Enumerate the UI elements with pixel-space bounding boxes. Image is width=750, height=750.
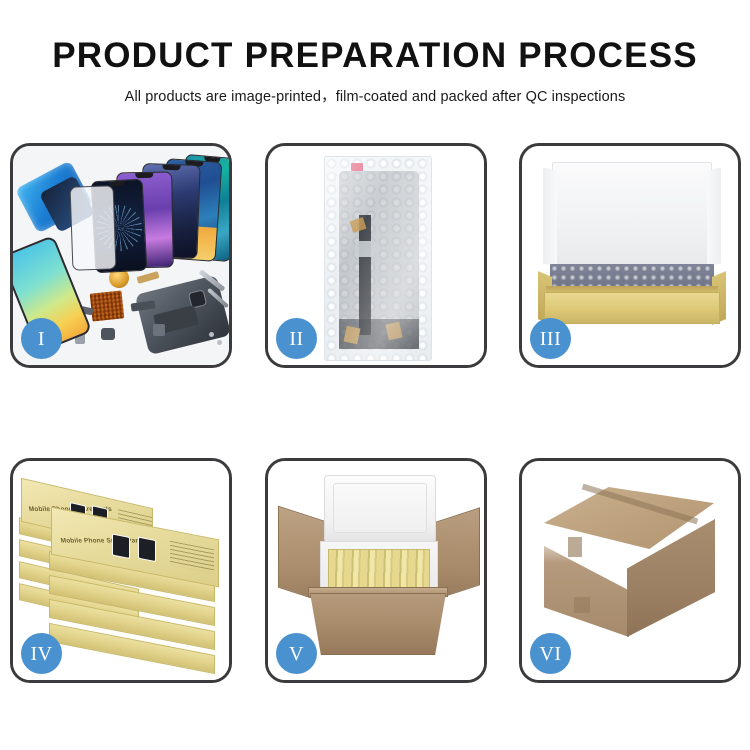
box-print-screen-image	[112, 534, 130, 559]
box-lid-open	[552, 162, 712, 272]
carton-left-face	[544, 531, 629, 637]
step-panel-4: Mobile Phone Spare Parts Mobile Phone Sp…	[10, 458, 232, 683]
flex-cable-gold	[136, 271, 159, 284]
step-panel-5: V	[265, 458, 487, 683]
phone-back-housing	[135, 275, 229, 355]
yellow-boxes-inside	[328, 549, 430, 591]
box-print-label: Mobile Phone Spare Parts	[60, 538, 145, 545]
step-badge-5: V	[276, 633, 317, 674]
carton-front-panel	[310, 593, 446, 655]
camera-module-part	[101, 328, 115, 340]
product-preparation-infographic: PRODUCT PREPARATION PROCESS All products…	[0, 0, 750, 750]
screw-part	[217, 340, 222, 345]
foam-lid	[324, 475, 436, 543]
carton-tape-mark	[574, 597, 590, 613]
step-badge-4: IV	[21, 633, 62, 674]
step-badge-2: II	[276, 318, 317, 359]
button-part	[153, 324, 165, 336]
bubble-wrap-bag	[324, 156, 432, 361]
box-front-panel	[544, 292, 720, 324]
box-print-screen-image	[138, 537, 156, 562]
steps-grid: I II	[0, 0, 750, 750]
step-panel-1: I	[10, 143, 232, 368]
step-badge-1: I	[21, 318, 62, 359]
step-panel-2: II	[265, 143, 487, 368]
step-panel-6: VI	[519, 458, 741, 683]
step-badge-6: VI	[530, 633, 571, 674]
step-panel-3: III	[519, 143, 741, 368]
carton-tape-mark	[568, 537, 582, 557]
bag-reflection	[325, 157, 431, 360]
step-badge-3: III	[530, 318, 571, 359]
tempered-glass-protector	[70, 185, 117, 270]
screw-part	[209, 332, 214, 337]
ic-chip-grid	[90, 290, 125, 321]
